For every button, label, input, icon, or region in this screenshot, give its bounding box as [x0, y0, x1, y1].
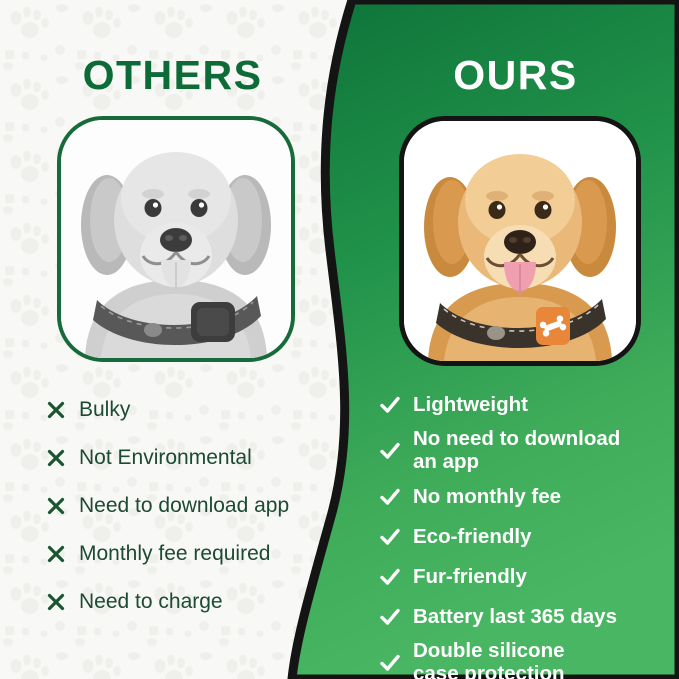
list-item: Bulky	[44, 386, 306, 434]
check-icon	[378, 486, 402, 508]
ours-dog-photo	[404, 121, 636, 361]
check-icon	[378, 606, 402, 628]
list-item-label: Monthly fee required	[79, 543, 270, 565]
list-item: Eco-friendly	[378, 517, 668, 557]
check-icon	[378, 394, 402, 416]
list-item-label: No monthly fee	[413, 486, 561, 509]
ours-title: OURS	[352, 52, 679, 99]
x-mark-icon	[44, 496, 68, 516]
list-item-label: Lightweight	[413, 394, 528, 417]
list-item: Not Environmental	[44, 434, 306, 482]
list-item-label: Double silicone case protection	[413, 640, 565, 679]
list-item-label: No need to download an app	[413, 428, 620, 474]
check-icon	[378, 440, 402, 462]
check-icon	[378, 526, 402, 548]
x-mark-icon	[44, 400, 68, 420]
list-item: Battery last 365 days	[378, 597, 668, 637]
check-icon	[378, 566, 402, 588]
list-item: No monthly fee	[378, 477, 668, 517]
list-item-label: Bulky	[79, 399, 130, 421]
others-dog-photo	[61, 120, 291, 358]
comparison-infographic: OTHERS OURS	[0, 0, 679, 679]
list-item-label: Fur-friendly	[413, 566, 527, 589]
list-item-label: Battery last 365 days	[413, 606, 617, 629]
list-item: Lightweight	[378, 385, 668, 425]
list-item-label: Need to charge	[79, 591, 223, 613]
check-icon	[378, 652, 402, 674]
list-item: Monthly fee required	[44, 530, 306, 578]
list-item: Fur-friendly	[378, 557, 668, 597]
others-title: OTHERS	[0, 52, 345, 99]
x-mark-icon	[44, 592, 68, 612]
list-item: Double silicone case protection	[378, 637, 668, 679]
list-item-label: Need to download app	[79, 495, 289, 517]
ours-photo-frame	[399, 116, 641, 366]
list-item: No need to download an app	[378, 425, 668, 477]
x-mark-icon	[44, 448, 68, 468]
list-item: Need to charge	[44, 578, 306, 626]
list-item: Need to download app	[44, 482, 306, 530]
others-feature-list: Bulky Not Environmental Need to download…	[44, 386, 306, 626]
x-mark-icon	[44, 544, 68, 564]
list-item-label: Not Environmental	[79, 447, 252, 469]
list-item-label: Eco-friendly	[413, 526, 531, 549]
ours-feature-list: Lightweight No need to download an app N…	[378, 385, 668, 679]
others-photo-frame	[57, 116, 295, 362]
